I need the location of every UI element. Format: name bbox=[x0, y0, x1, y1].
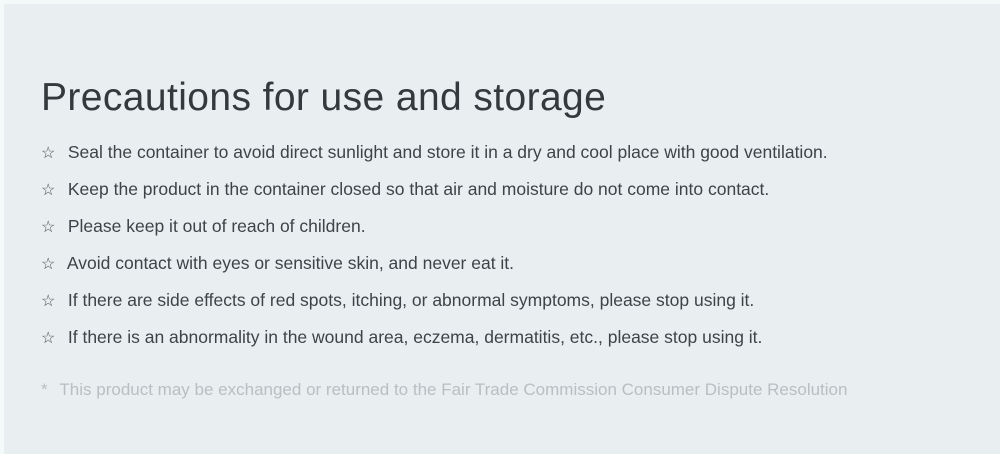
precautions-list: ☆ Seal the container to avoid direct sun… bbox=[41, 140, 1000, 362]
list-item-label: Seal the container to avoid direct sunli… bbox=[68, 142, 828, 162]
left-edge-highlight bbox=[0, 0, 4, 454]
list-item: ☆ Keep the product in the container clos… bbox=[41, 177, 1000, 214]
precautions-panel: Precautions for use and storage ☆ Seal t… bbox=[0, 0, 1000, 454]
asterisk-icon: * bbox=[41, 378, 55, 402]
star-outline-icon: ☆ bbox=[41, 179, 63, 203]
list-item-label: Avoid contact with eyes or sensitive ski… bbox=[67, 253, 514, 273]
page-title: Precautions for use and storage bbox=[41, 74, 606, 122]
list-item: ☆ If there is an abnormality in the woun… bbox=[41, 325, 1000, 362]
list-item-label: If there is an abnormality in the wound … bbox=[68, 327, 763, 347]
list-item-label: Keep the product in the container closed… bbox=[68, 179, 769, 199]
list-item-label: If there are side effects of red spots, … bbox=[68, 290, 754, 310]
list-item: ☆ Avoid contact with eyes or sensitive s… bbox=[41, 251, 1000, 288]
star-outline-icon: ☆ bbox=[41, 327, 63, 351]
list-item: ☆ Please keep it out of reach of childre… bbox=[41, 214, 1000, 251]
list-item-label: Please keep it out of reach of children. bbox=[68, 216, 366, 236]
star-outline-icon: ☆ bbox=[41, 216, 63, 240]
top-edge-highlight bbox=[0, 0, 1000, 4]
star-outline-icon: ☆ bbox=[41, 290, 63, 314]
list-item: ☆ If there are side effects of red spots… bbox=[41, 288, 1000, 325]
list-item: ☆ Seal the container to avoid direct sun… bbox=[41, 140, 1000, 177]
footnote: * This product may be exchanged or retur… bbox=[41, 378, 1000, 402]
star-outline-icon: ☆ bbox=[41, 142, 63, 166]
star-outline-icon: ☆ bbox=[41, 253, 63, 277]
footnote-text: This product may be exchanged or returne… bbox=[59, 380, 847, 399]
